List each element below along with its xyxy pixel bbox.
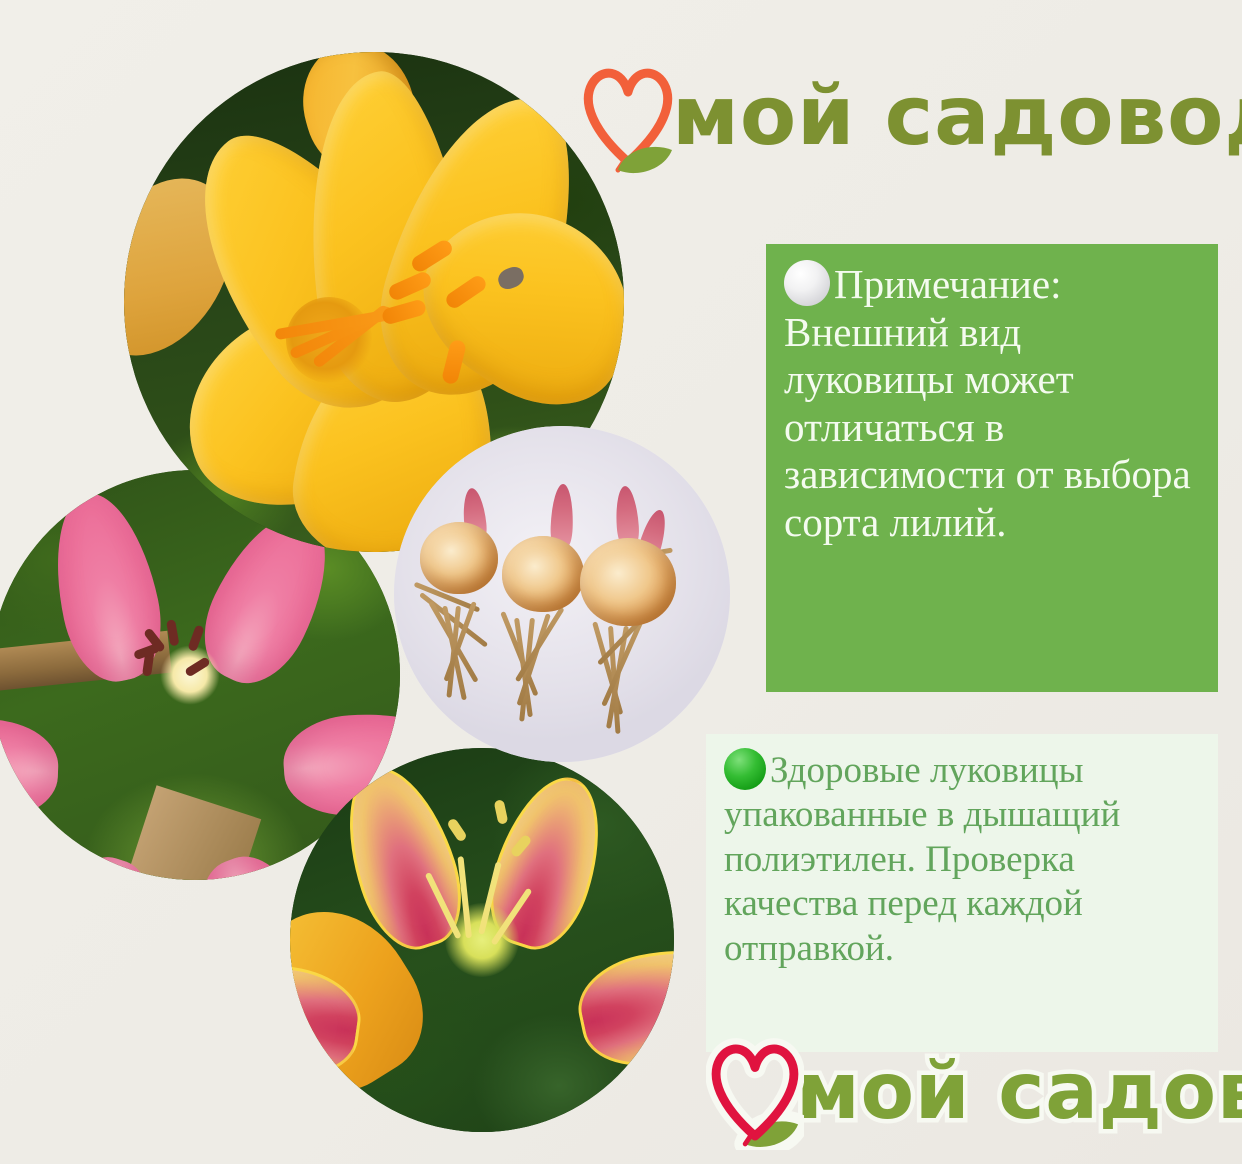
- quality-panel: Здоровые луковицы упакованные в дышащий …: [706, 734, 1218, 1052]
- bicolor-lily-photo: [290, 748, 674, 1132]
- note-panel-text: Примечание: Внешний вид луковицы может о…: [784, 261, 1191, 545]
- brand-logo-bottom[interactable]: мой садовод: [706, 1034, 1242, 1150]
- lily-bulbs-photo: [394, 426, 730, 762]
- note-panel: Примечание: Внешний вид луковицы может о…: [766, 244, 1218, 692]
- bulb: [420, 522, 498, 594]
- brand-name-top: мой садовод: [672, 76, 1242, 158]
- quality-panel-body: Здоровые луковицы упакованные в дышащий …: [724, 748, 1202, 971]
- brand-logo-top[interactable]: мой садовод: [578, 58, 1242, 176]
- note-panel-body: Примечание: Внешний вид луковицы может о…: [784, 260, 1200, 546]
- bulb: [502, 536, 584, 612]
- bulb: [580, 538, 676, 626]
- heart-leaf-icon: [578, 58, 678, 176]
- quality-panel-text: Здоровые луковицы упакованные в дышащий …: [724, 750, 1120, 969]
- green-circle-bullet-icon: [724, 748, 766, 790]
- heart-leaf-icon: [706, 1034, 804, 1150]
- white-circle-bullet-icon: [784, 260, 830, 306]
- brand-name-bottom: мой садовод: [796, 1053, 1242, 1131]
- poster-canvas: мой садовод Примечание: Внешний вид луко…: [0, 0, 1242, 1164]
